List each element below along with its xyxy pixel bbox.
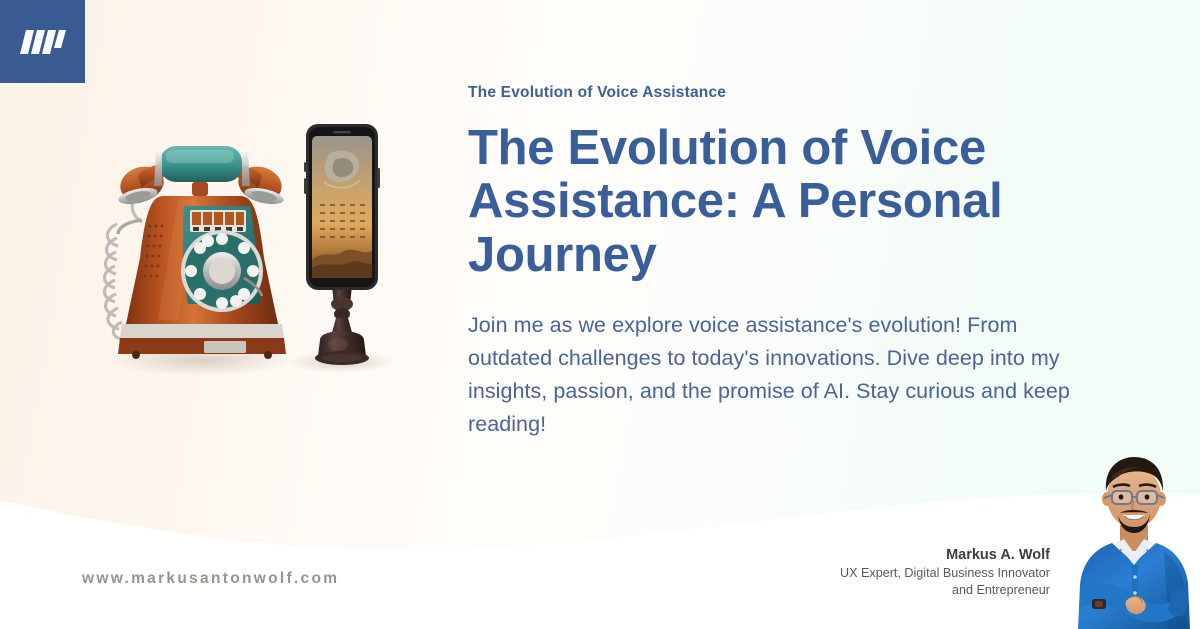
vintage-phone-artwork: [92, 108, 422, 383]
author-name: Markus A. Wolf: [840, 546, 1050, 565]
author-byline: Markus A. Wolf UX Expert, Digital Busine…: [840, 546, 1050, 599]
page-title: The Evolution of Voice Assistance: A Per…: [468, 122, 1088, 284]
content-column: The Evolution of Voice Assistance The Ev…: [468, 84, 1088, 441]
brand-logo[interactable]: [0, 0, 85, 83]
slashes-logo-icon: [18, 28, 68, 56]
author-portrait-avatar: [1068, 451, 1200, 629]
website-url[interactable]: www.markusantonwolf.com: [82, 570, 339, 588]
author-role-line-2: and Entrepreneur: [840, 582, 1050, 599]
author-role-line-1: UX Expert, Digital Business Innovator: [840, 565, 1050, 582]
banner-canvas: The Evolution of Voice Assistance The Ev…: [0, 0, 1200, 629]
page-description: Join me as we explore voice assistance's…: [468, 309, 1088, 441]
eyebrow-label: The Evolution of Voice Assistance: [468, 84, 1088, 103]
